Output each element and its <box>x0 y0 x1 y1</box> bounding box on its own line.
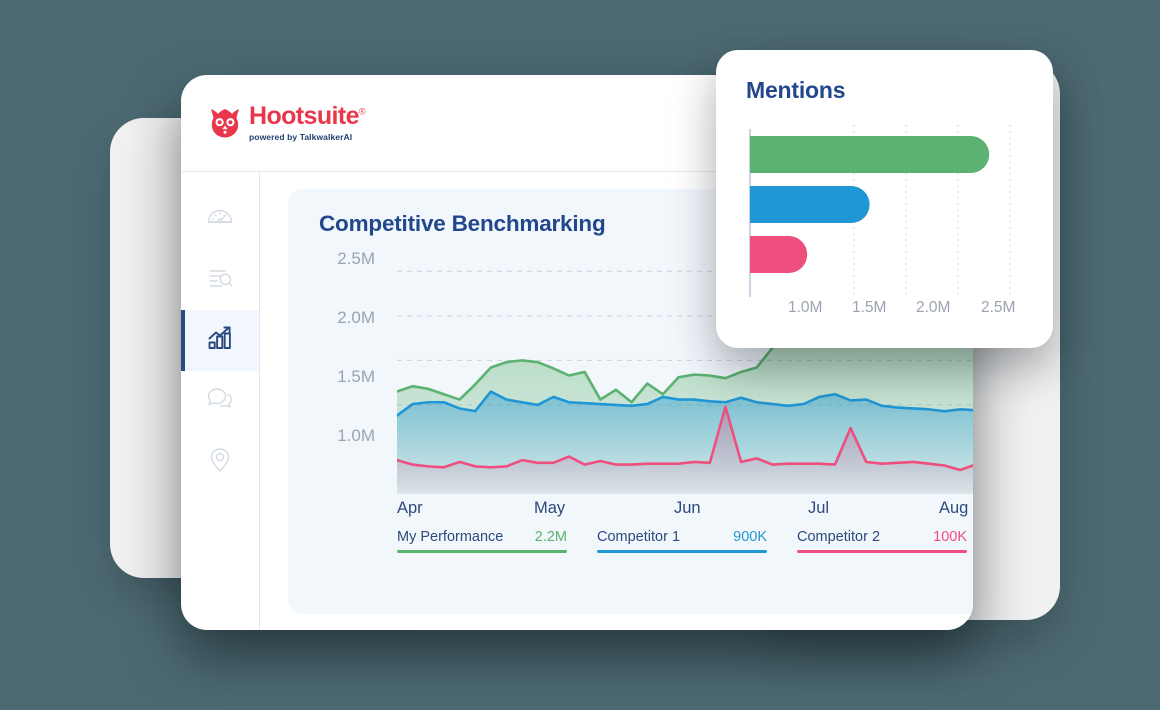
location-pin-icon <box>205 445 235 480</box>
mentions-bar-cap <box>750 236 769 273</box>
sidebar-item-conversations[interactable] <box>181 371 259 432</box>
brand-name: Hootsuite® <box>249 104 365 129</box>
x-tick-label: Aug <box>939 499 968 518</box>
x-tick-label: 1.0M <box>788 299 822 317</box>
x-tick-label: May <box>534 499 565 518</box>
sidebar-item-locations[interactable] <box>181 432 259 493</box>
search-list-icon <box>205 262 235 297</box>
sidebar-item-analytics[interactable] <box>181 310 259 371</box>
x-axis-labels: Apr May Jun Jul Aug <box>397 499 973 523</box>
legend-color-bar <box>597 550 767 553</box>
bar-chart-growth-icon <box>205 323 235 358</box>
mentions-title: Mentions <box>746 77 1053 104</box>
legend-value: 900K <box>733 529 767 545</box>
legend-value: 100K <box>933 529 967 545</box>
chat-bubbles-icon <box>205 384 235 419</box>
legend-label: Competitor 2 <box>797 529 880 545</box>
mentions-bar-cap <box>750 186 769 223</box>
x-tick-label: 2.0M <box>916 299 950 317</box>
mentions-bar-chart-svg <box>746 125 1036 297</box>
owl-icon <box>208 106 242 140</box>
legend-item[interactable]: Competitor 1 900K <box>597 529 797 553</box>
y-tick-label: 2.0M <box>319 308 375 328</box>
x-tick-label: Jul <box>808 499 829 518</box>
hootsuite-logo[interactable]: Hootsuite® powered by TalkwalkerAI <box>208 104 365 142</box>
sidebar-item-dashboard[interactable] <box>181 188 259 249</box>
sidebar-item-search[interactable] <box>181 249 259 310</box>
x-tick-label: 1.5M <box>852 299 886 317</box>
registered-mark: ® <box>359 107 365 117</box>
legend-label: Competitor 1 <box>597 529 680 545</box>
brand-name-text: Hootsuite <box>249 102 359 130</box>
legend-color-bar <box>797 550 967 553</box>
mentions-bar-cap <box>750 136 769 173</box>
legend-item[interactable]: Competitor 2 100K <box>797 529 973 553</box>
x-tick-label: 2.5M <box>981 299 1015 317</box>
y-tick-label: 1.0M <box>319 426 375 446</box>
legend-item[interactable]: My Performance 2.2M <box>397 529 597 553</box>
x-tick-label: Apr <box>397 499 423 518</box>
legend-value: 2.2M <box>535 529 567 545</box>
mentions-bar[interactable] <box>750 136 989 173</box>
mentions-plot: 1.0M 1.5M 2.0M 2.5M <box>746 125 1053 302</box>
chart-legend: My Performance 2.2M Competitor 1 900K <box>397 529 973 553</box>
speedometer-icon <box>205 201 235 236</box>
sidebar <box>181 172 260 630</box>
y-tick-label: 2.5M <box>319 249 375 269</box>
mentions-card: Mentions 1.0M 1.5M 2.0M 2.5M <box>716 50 1053 348</box>
legend-color-bar <box>397 550 567 553</box>
x-tick-label: Jun <box>674 499 701 518</box>
brand-tagline: powered by TalkwalkerAI <box>249 132 365 142</box>
y-tick-label: 1.5M <box>319 367 375 387</box>
legend-label: My Performance <box>397 529 503 545</box>
